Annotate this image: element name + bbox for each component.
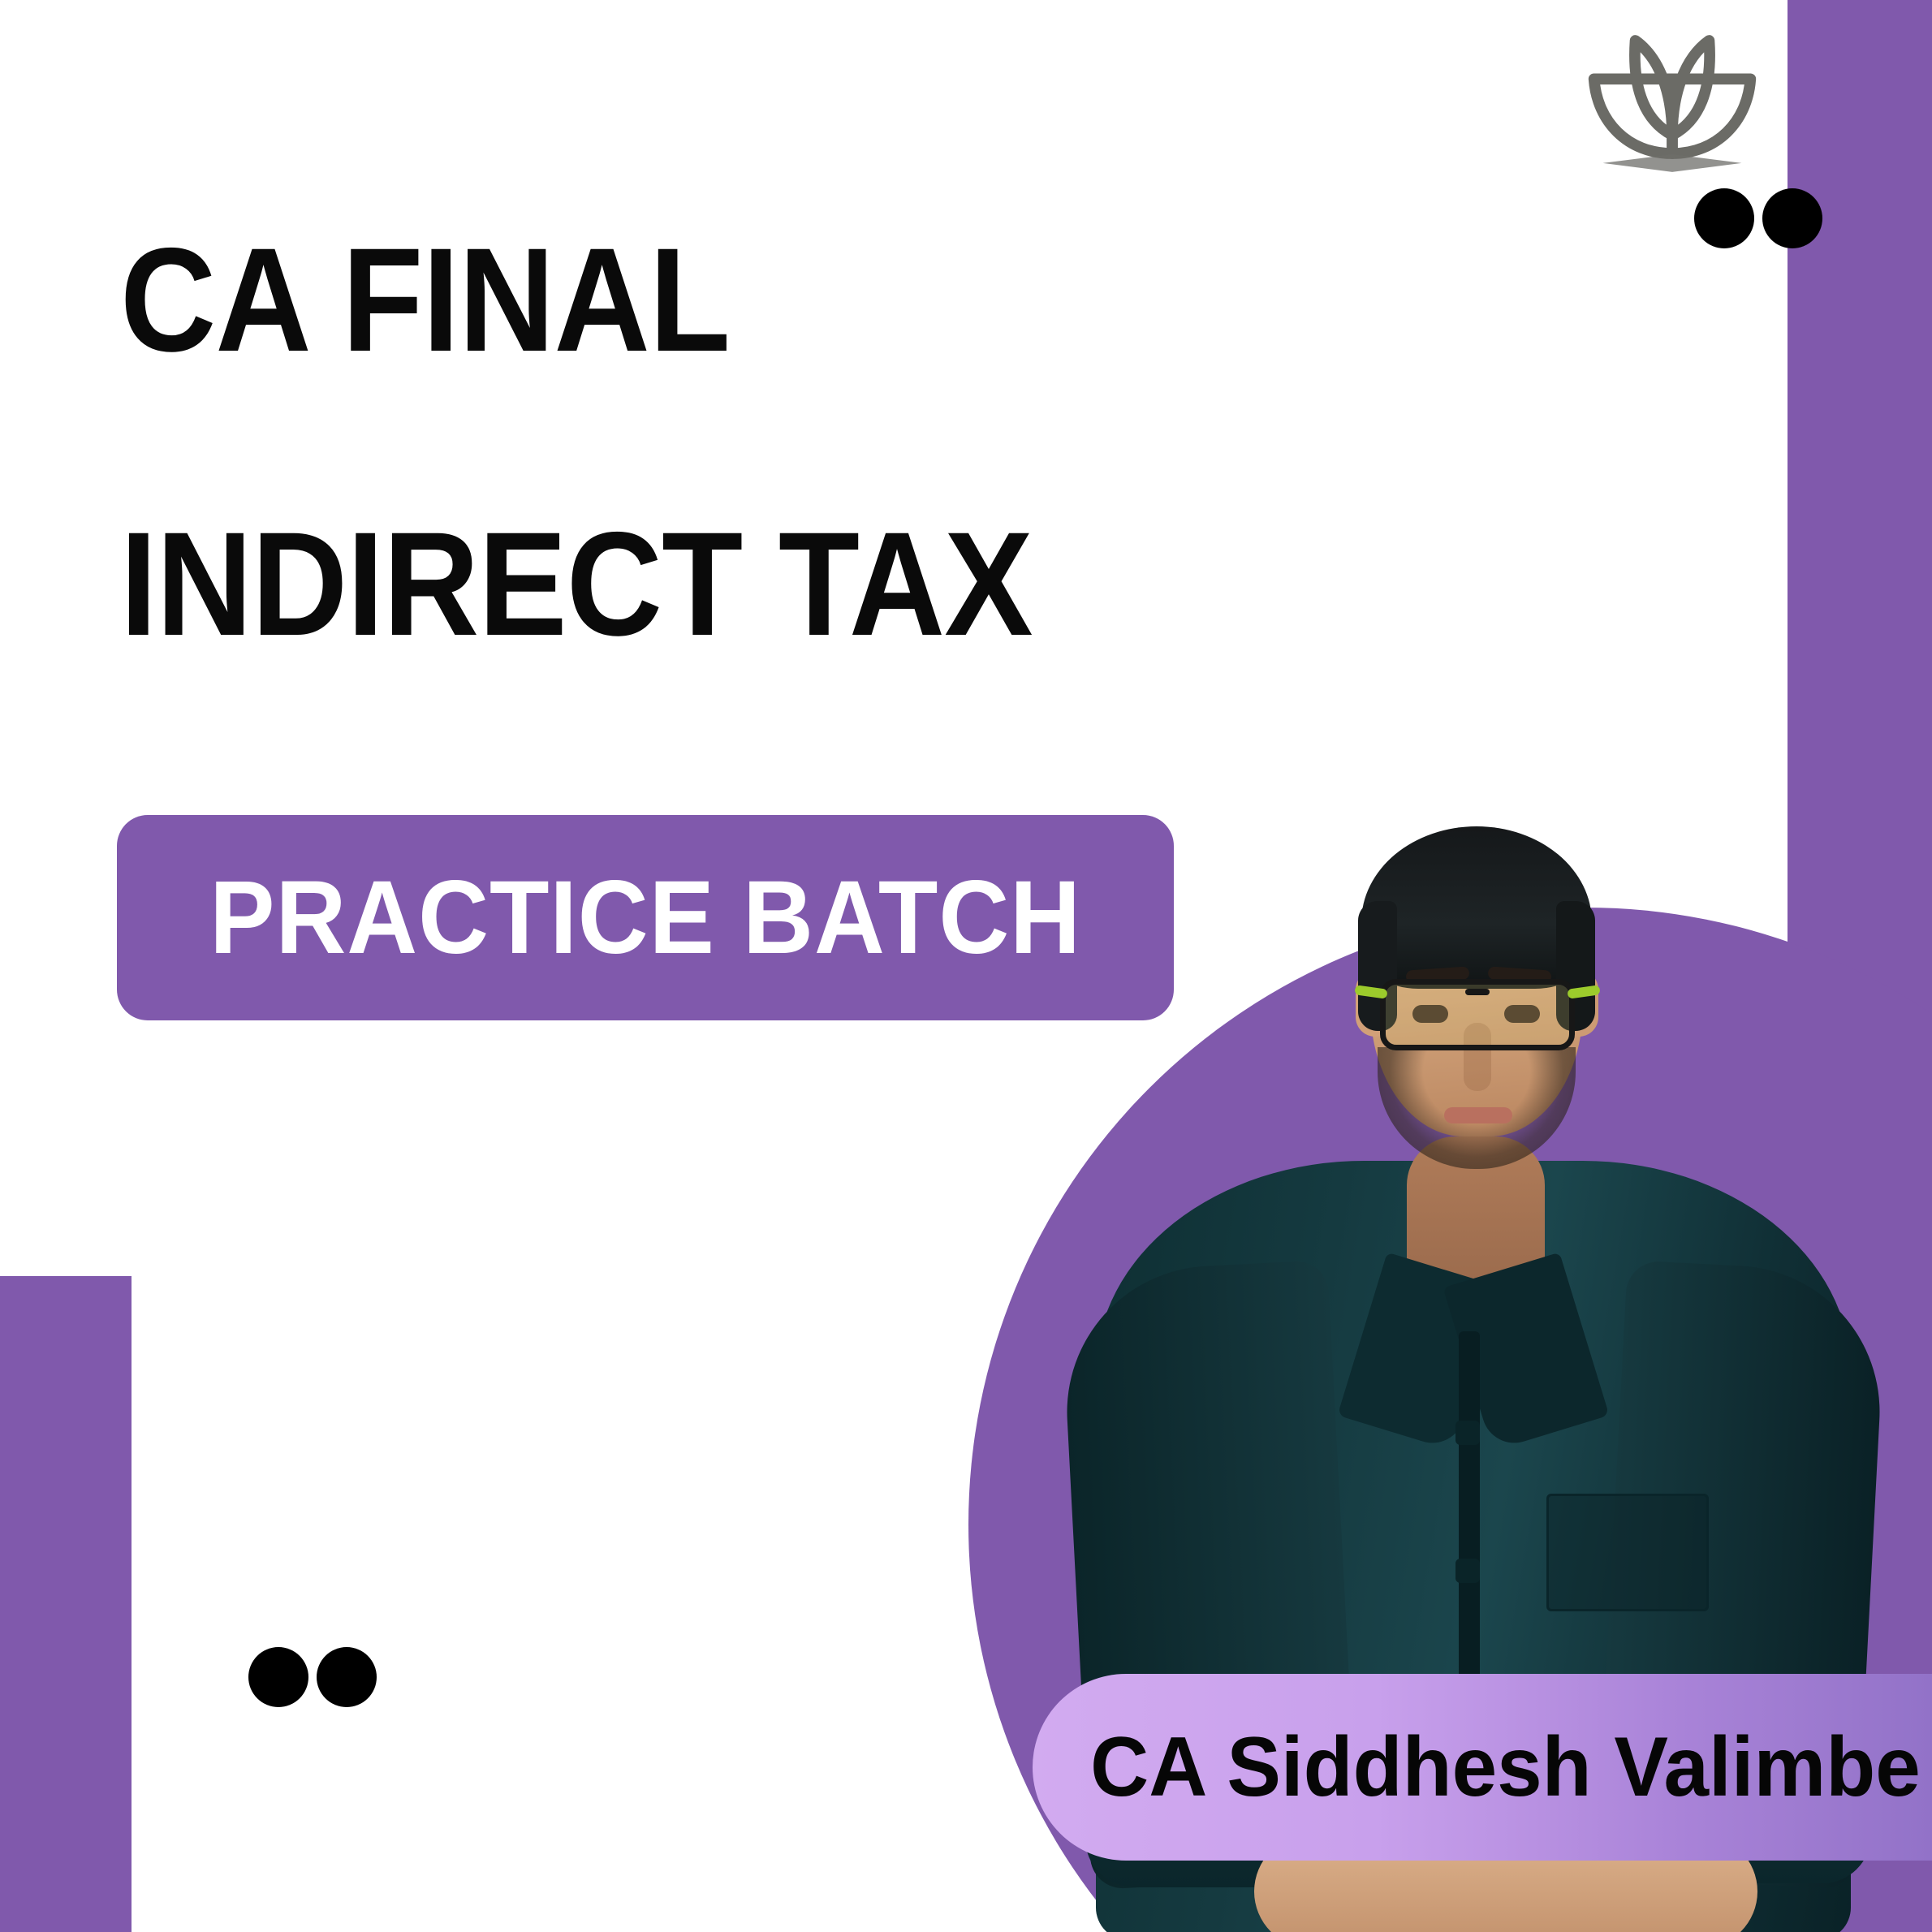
accent-rectangle-bottom-left — [0, 1276, 132, 1932]
course-poster: CA FINAL INDIRECT TAX PRACTICE BATCH — [0, 0, 1932, 1932]
decorative-dot-icon — [1694, 188, 1754, 248]
glasses-bridge — [1465, 989, 1490, 995]
headline-subject: INDIRECT TAX — [120, 510, 1033, 658]
decorative-dot-icon — [1762, 188, 1822, 248]
mouth — [1444, 1107, 1512, 1123]
decorative-dot-icon — [317, 1647, 377, 1707]
shirt-pocket — [1546, 1494, 1709, 1611]
decorative-dot-icon — [248, 1647, 308, 1707]
headline-course-level: CA FINAL — [120, 226, 730, 373]
shirt-button — [1455, 1559, 1480, 1583]
lotus-book-logo-icon — [1583, 24, 1762, 187]
practice-batch-label: PRACTICE BATCH — [209, 858, 1081, 977]
shirt-button — [1455, 1421, 1480, 1445]
presenter-name-banner: CA Siddhesh Valimbe — [1033, 1674, 1932, 1861]
presenter-name-label: CA Siddhesh Valimbe — [1044, 1719, 1921, 1816]
